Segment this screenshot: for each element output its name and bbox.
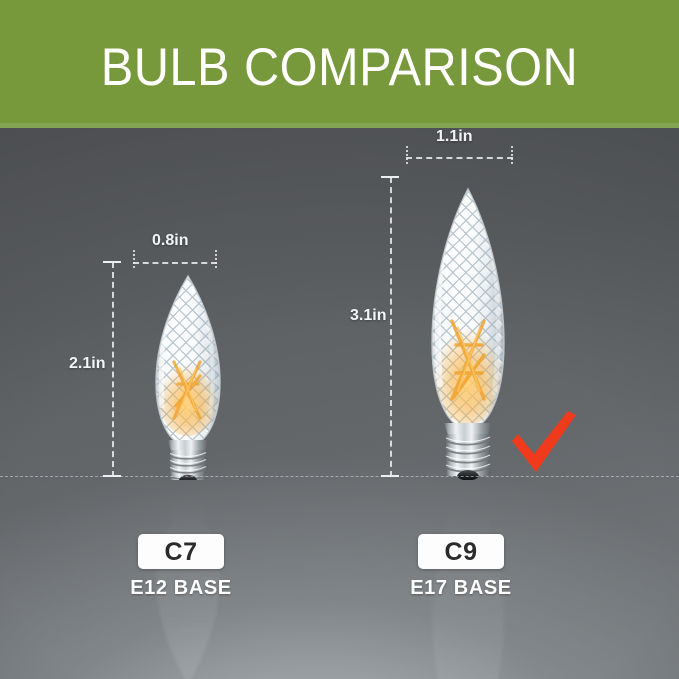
c7-width-tick-left [133, 250, 135, 268]
c9-width-tick-left [406, 146, 408, 164]
c7-height-cap-top [103, 261, 121, 263]
c7-width-dimension-line [133, 262, 217, 264]
c7-height-label: 2.1in [69, 355, 105, 373]
c9-width-dimension-line [406, 157, 513, 159]
header-band-edge [0, 123, 679, 128]
c9-height-cap-bottom [381, 475, 399, 477]
c7-width-tick-right [215, 250, 217, 268]
c7-height-dimension-line [112, 262, 114, 477]
c7-chip-label: C7 [165, 538, 198, 566]
c9-width-label: 1.1in [436, 128, 472, 146]
red-check-mark-icon [508, 410, 580, 483]
bulb-faceted-large-icon [414, 175, 522, 480]
c9-height-label: 3.1in [350, 307, 386, 325]
c7-base-label: E12 BASE [101, 576, 261, 600]
bulb-faceted-small-icon [134, 258, 242, 480]
c9-chip[interactable]: C9 [418, 534, 504, 569]
page-title: BULB COMPARISON [27, 38, 652, 98]
c7-width-label: 0.8in [152, 232, 188, 250]
c7-chip[interactable]: C7 [138, 534, 224, 569]
c9-height-cap-top [381, 176, 399, 178]
c7-height-cap-bottom [103, 475, 121, 477]
c9-chip-label: C9 [445, 538, 478, 566]
c9-base-label: E17 BASE [381, 576, 541, 600]
bulb-c9-image [414, 175, 522, 480]
c9-height-dimension-line [390, 177, 392, 477]
bulb-c7-image [134, 258, 242, 480]
check-glyph [508, 410, 580, 478]
bulb-comparison-infographic: BULB COMPARISON [0, 0, 679, 679]
c9-width-tick-right [511, 146, 513, 164]
